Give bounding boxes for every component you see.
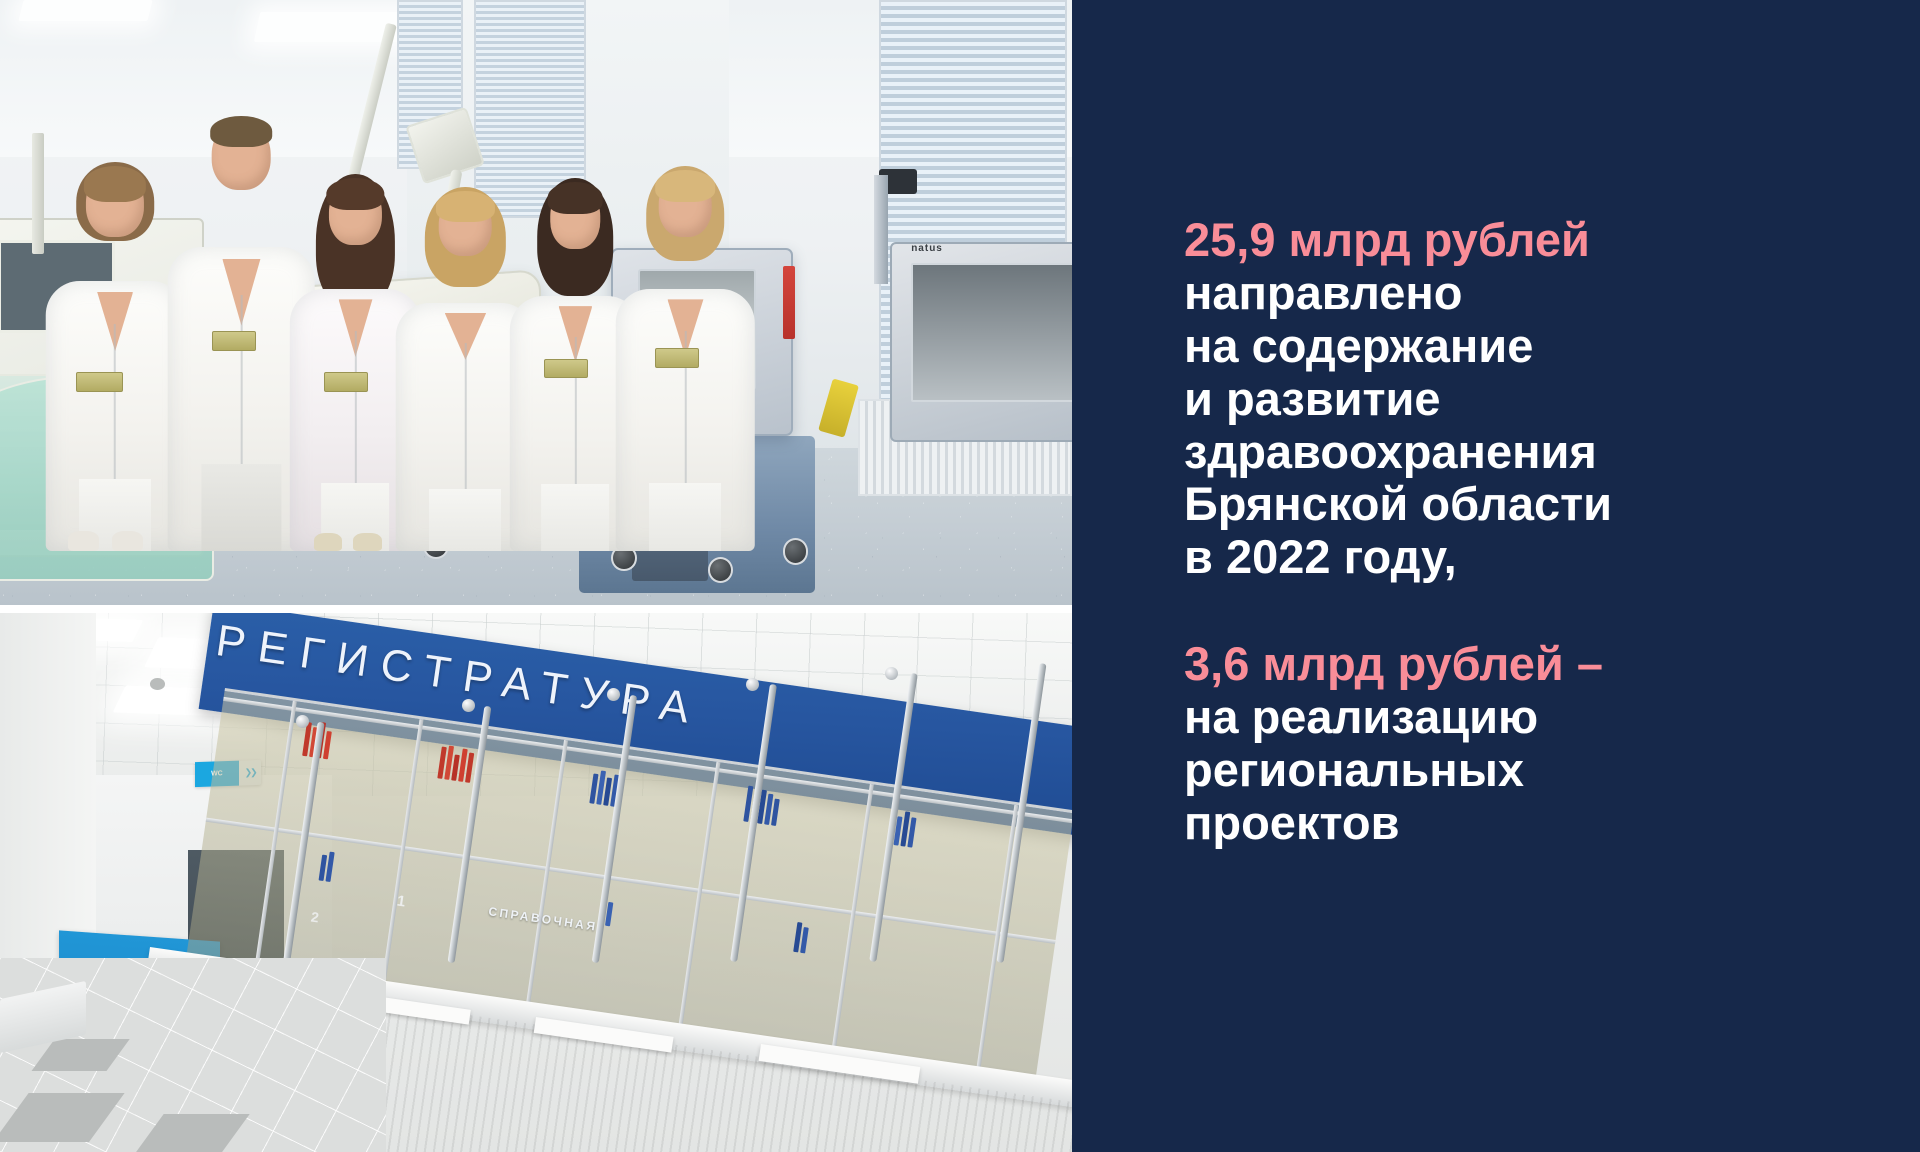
hair-front	[84, 166, 146, 202]
statement-line: направлено	[1184, 267, 1920, 320]
photo-nicu-staff: natus	[0, 0, 1072, 605]
block-spacer	[1184, 584, 1920, 638]
glass-mullion	[677, 762, 721, 1037]
reception-scene: WC ❯❯ 3 ❯❯ 2 ❯❯	[0, 613, 1072, 1152]
text-panel: 25,9 млрд рублей направлено на содержани…	[1072, 0, 1920, 1152]
statement-block-2: 3,6 млрд рублей – на реализацию регионал…	[1184, 638, 1920, 850]
staff-group	[21, 79, 836, 551]
hair-front	[548, 182, 603, 213]
hair-front	[656, 170, 716, 202]
monitor-arm	[874, 175, 888, 284]
photo-reception-hall: WC ❯❯ 3 ❯❯ 2 ❯❯	[0, 613, 1072, 1152]
shoe	[112, 531, 142, 551]
statement-line: на реализацию	[1184, 691, 1920, 744]
trousers	[542, 484, 610, 551]
smoke-detector	[150, 678, 165, 690]
photo-column: natus	[0, 0, 1072, 1152]
name-badge	[324, 372, 368, 392]
hair-front	[327, 178, 384, 210]
natus-brand-label: natus	[911, 243, 943, 254]
photo-divider	[0, 605, 1072, 613]
shoe	[314, 533, 343, 551]
name-badge	[655, 348, 699, 368]
glass-mullion	[830, 784, 874, 1059]
statement-line: и развитие	[1184, 373, 1920, 426]
name-badge	[544, 359, 588, 379]
statement-line: здравоохранения	[1184, 426, 1920, 479]
trousers	[202, 464, 281, 551]
name-badge	[212, 331, 256, 351]
glass-mullion	[975, 805, 1019, 1080]
statement-line: региональных	[1184, 744, 1920, 797]
natus-screen	[911, 263, 1072, 402]
name-badge	[76, 372, 123, 392]
statement-line: Брянской области	[1184, 478, 1920, 531]
highlight-amount-2: 3,6 млрд рублей –	[1184, 638, 1920, 691]
staff-member	[46, 154, 185, 550]
shoe	[353, 533, 382, 551]
statement-line: в 2022 году,	[1184, 531, 1920, 584]
ceiling-light	[19, 0, 153, 21]
trousers	[429, 489, 501, 551]
hair-front	[436, 191, 494, 222]
staff-member	[616, 154, 755, 550]
trousers	[649, 483, 721, 550]
statement-line: проектов	[1184, 797, 1920, 850]
post-cap	[746, 678, 759, 691]
infographic-slide: natus	[0, 0, 1920, 1152]
nicu-scene: natus	[0, 0, 1072, 605]
statement-block-1: 25,9 млрд рублей направлено на содержани…	[1184, 214, 1920, 584]
statement-line: на содержание	[1184, 320, 1920, 373]
hair	[211, 116, 273, 146]
glass-mullion	[380, 720, 424, 995]
shoe	[68, 531, 98, 551]
highlight-amount-1: 25,9 млрд рублей	[1184, 214, 1920, 267]
glass-rail	[206, 818, 1055, 944]
glass-mullion	[525, 740, 569, 1015]
